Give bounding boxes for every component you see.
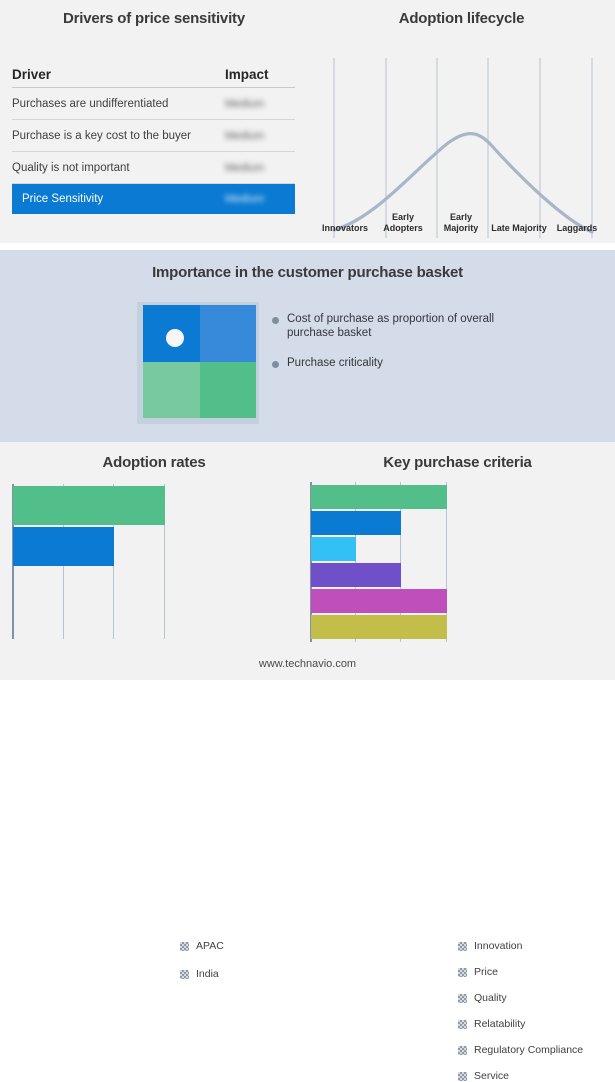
bar-price[interactable] <box>311 511 401 535</box>
legend-swatch-icon <box>180 970 189 979</box>
quadrant-cell-top-right[interactable] <box>200 305 257 362</box>
legend-label: India <box>196 968 219 980</box>
drivers-table: Driver Impact Purchases are undifferenti… <box>12 62 295 214</box>
adoption-rates-card: Adoption rates APAC India <box>0 442 308 652</box>
legend-item-india: India <box>180 968 219 980</box>
legend-item: Cost of purchase as proportion of overal… <box>272 312 592 340</box>
bullet-dot-icon <box>272 317 279 324</box>
adoption-lifecycle-title: Adoption lifecycle <box>308 10 615 27</box>
lifecycle-stage-laggards: Laggards <box>548 200 606 238</box>
legend-label: Service <box>474 1070 509 1082</box>
legend-item-innovation: Innovation <box>458 940 522 952</box>
lifecycle-stage-late-majority: Late Majority <box>490 200 548 238</box>
bar-service[interactable] <box>311 615 447 639</box>
lifecycle-stage-innovators: Innovators <box>316 200 374 238</box>
table-row-highlighted[interactable]: Price Sensitivity Medium <box>12 184 295 214</box>
driver-name: Price Sensitivity <box>22 193 225 205</box>
legend-label: Regulatory Compliance <box>474 1044 583 1056</box>
impact-value: Medium <box>225 130 295 142</box>
lifecycle-stage-labels: Innovators Early Adopters Early Majority… <box>316 200 606 238</box>
site-url[interactable]: www.technavio.com <box>0 658 615 670</box>
table-header-row: Driver Impact <box>12 62 295 88</box>
drivers-card: Drivers of price sensitivity Driver Impa… <box>0 0 308 243</box>
adoption-rates-plot <box>12 484 167 639</box>
impact-value: Medium <box>225 98 295 110</box>
key-purchase-criteria-card: Key purchase criteria Innovation Price Q… <box>300 442 615 652</box>
bar-apac[interactable] <box>13 486 165 525</box>
legend-item-regulatory-compliance: Regulatory Compliance <box>458 1044 583 1056</box>
legend-swatch-icon <box>458 1046 467 1055</box>
lifecycle-stage-early-adopters: Early Adopters <box>374 200 432 238</box>
criteria-plot <box>310 482 447 642</box>
driver-name: Purchases are undifferentiated <box>12 98 225 110</box>
legend-swatch-icon <box>458 942 467 951</box>
importance-card: Importance in the customer purchase bask… <box>0 250 615 442</box>
legend-swatch-icon <box>458 1072 467 1081</box>
importance-title: Importance in the customer purchase bask… <box>0 264 615 281</box>
table-row[interactable]: Quality is not important Medium <box>12 152 295 184</box>
adoption-rates-title: Adoption rates <box>0 454 308 471</box>
legend-label: Quality <box>474 992 507 1004</box>
bar-innovation[interactable] <box>311 485 447 509</box>
quadrant-matrix <box>143 305 256 418</box>
legend-label: Relatability <box>474 1018 525 1030</box>
legend-label: Purchase criticality <box>287 356 383 370</box>
legend-swatch-icon <box>458 1020 467 1029</box>
drivers-title: Drivers of price sensitivity <box>0 10 308 27</box>
adoption-lifecycle-card: Adoption lifecycle Innovators Early Adop… <box>308 0 615 243</box>
bar-quality[interactable] <box>311 537 356 561</box>
column-header-driver: Driver <box>12 67 225 82</box>
lifecycle-stage-early-majority: Early Majority <box>432 200 490 238</box>
legend-item: Purchase criticality <box>272 356 592 370</box>
legend-label: APAC <box>196 940 224 952</box>
impact-value: Medium <box>225 162 295 174</box>
legend-label: Price <box>474 966 498 978</box>
legend-label: Innovation <box>474 940 522 952</box>
quadrant-cell-bottom-left[interactable] <box>143 362 200 419</box>
driver-name: Quality is not important <box>12 162 225 174</box>
column-header-impact: Impact <box>225 67 295 82</box>
bar-relatability[interactable] <box>311 563 401 587</box>
quadrant-frame <box>137 302 259 424</box>
legend-item-service: Service <box>458 1070 509 1082</box>
table-row[interactable]: Purchase is a key cost to the buyer Medi… <box>12 120 295 152</box>
legend-item-quality: Quality <box>458 992 507 1004</box>
quadrant-cell-bottom-right[interactable] <box>200 362 257 419</box>
bullet-dot-icon <box>272 361 279 368</box>
table-row[interactable]: Purchases are undifferentiated Medium <box>12 88 295 120</box>
legend-item-price: Price <box>458 966 498 978</box>
legend-swatch-icon <box>458 994 467 1003</box>
legend-swatch-icon <box>458 968 467 977</box>
driver-name: Purchase is a key cost to the buyer <box>12 130 225 142</box>
importance-legend: Cost of purchase as proportion of overal… <box>272 312 592 386</box>
bar-regulatory-compliance[interactable] <box>311 589 447 613</box>
bar-india[interactable] <box>13 527 114 566</box>
legend-label: Cost of purchase as proportion of overal… <box>287 312 517 340</box>
quadrant-marker-dot-icon <box>166 329 184 347</box>
legend-item-apac: APAC <box>180 940 224 952</box>
key-purchase-criteria-title: Key purchase criteria <box>300 454 615 471</box>
legend-swatch-icon <box>180 942 189 951</box>
impact-value: Medium <box>225 193 295 205</box>
legend-item-relatability: Relatability <box>458 1018 525 1030</box>
